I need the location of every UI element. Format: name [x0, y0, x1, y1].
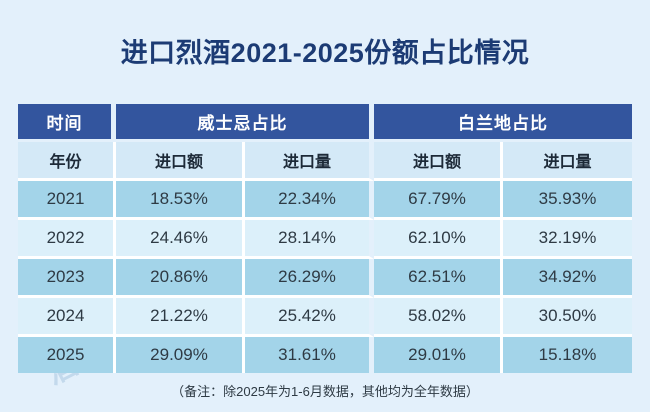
table-row: 2021 18.53% 22.34% 67.79% 35.93% [18, 181, 632, 220]
cell-brandy-volume: 32.19% [503, 220, 632, 259]
cell-whisky-value: 18.53% [116, 181, 245, 220]
cell-brandy-value: 29.01% [374, 337, 503, 373]
column-header-whisky-value: 进口额 [116, 142, 245, 181]
table-row: 2023 20.86% 26.29% 62.51% 34.92% [18, 259, 632, 298]
group-header-time: 时间 [18, 104, 116, 142]
cell-year: 2024 [18, 298, 116, 337]
cell-year: 2023 [18, 259, 116, 298]
column-header-brandy-volume: 进口量 [503, 142, 632, 181]
table-footnote: （备注：除2025年为1-6月数据，其他均为全年数据） [0, 381, 650, 400]
cell-whisky-volume: 28.14% [245, 220, 374, 259]
cell-brandy-volume: 34.92% [503, 259, 632, 298]
column-header-row: 年份 进口额 进口量 进口额 进口量 [18, 142, 632, 181]
page-title: 进口烈酒2021-2025份额占比情况 [0, 31, 650, 70]
cell-whisky-value: 20.86% [116, 259, 245, 298]
table-row: 2024 21.22% 25.42% 58.02% 30.50% [18, 298, 632, 337]
cell-year: 2022 [18, 220, 116, 259]
cell-brandy-volume: 30.50% [503, 298, 632, 337]
cell-brandy-value: 67.79% [374, 181, 503, 220]
data-table: 时间 威士忌占比 白兰地占比 年份 进口额 进口量 进口额 进口量 2021 1… [18, 104, 632, 373]
cell-year: 2021 [18, 181, 116, 220]
cell-year: 2025 [18, 337, 116, 373]
cell-brandy-volume: 15.18% [503, 337, 632, 373]
cell-whisky-volume: 31.61% [245, 337, 374, 373]
group-header-row: 时间 威士忌占比 白兰地占比 [18, 104, 632, 142]
cell-whisky-volume: 25.42% [245, 298, 374, 337]
table-head: 时间 威士忌占比 白兰地占比 年份 进口额 进口量 进口额 进口量 [18, 104, 632, 181]
column-header-whisky-volume: 进口量 [245, 142, 374, 181]
cell-brandy-volume: 35.93% [503, 181, 632, 220]
column-header-year: 年份 [18, 142, 116, 181]
cell-brandy-value: 62.10% [374, 220, 503, 259]
cell-whisky-volume: 22.34% [245, 181, 374, 220]
cell-brandy-value: 58.02% [374, 298, 503, 337]
group-header-whisky: 威士忌占比 [116, 104, 374, 142]
cell-brandy-value: 62.51% [374, 259, 503, 298]
group-header-brandy: 白兰地占比 [374, 104, 632, 142]
cell-whisky-value: 29.09% [116, 337, 245, 373]
column-header-brandy-value: 进口额 [374, 142, 503, 181]
cell-whisky-value: 21.22% [116, 298, 245, 337]
import-spirits-share-table: 时间 威士忌占比 白兰地占比 年份 进口额 进口量 进口额 进口量 2021 1… [18, 104, 632, 373]
table-body: 2021 18.53% 22.34% 67.79% 35.93% 2022 24… [18, 181, 632, 373]
cell-whisky-volume: 26.29% [245, 259, 374, 298]
table-row: 2025 29.09% 31.61% 29.01% 15.18% [18, 337, 632, 373]
cell-whisky-value: 24.46% [116, 220, 245, 259]
table-row: 2022 24.46% 28.14% 62.10% 32.19% [18, 220, 632, 259]
